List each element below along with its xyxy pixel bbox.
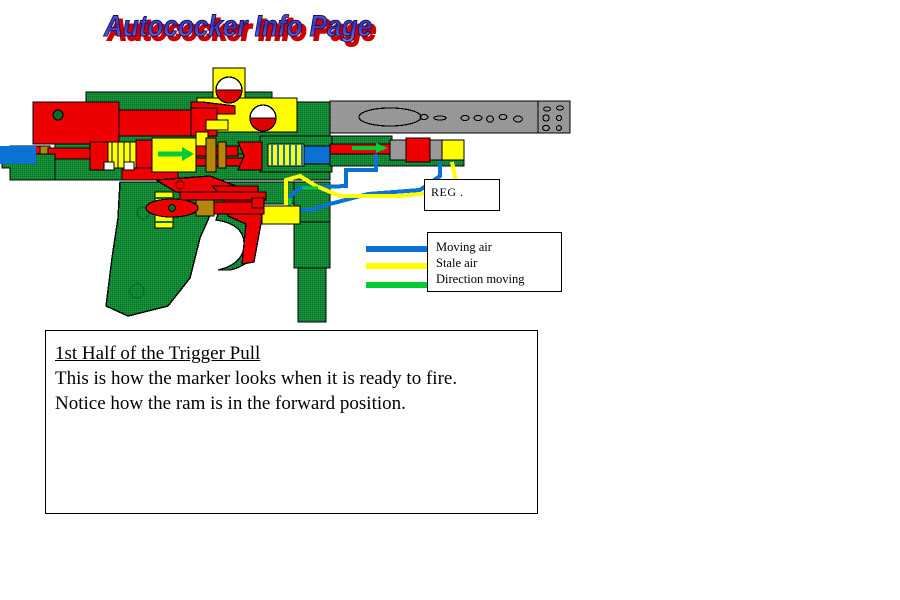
paintball-in-feedneck [216, 77, 242, 103]
page-title-svg: Autococker Info Page Autococker Info Pag… [100, 8, 380, 52]
legend: Moving air Stale air Direction moving [366, 232, 562, 292]
vertical-asa-adapter [294, 182, 330, 322]
legend-label-stale-air: Stale air [436, 255, 477, 271]
valve-chamber [152, 138, 262, 172]
legend-swatch-direction-moving [366, 282, 430, 288]
description-line-2: Notice how the ram is in the forward pos… [55, 391, 537, 416]
legend-label-moving-air: Moving air [436, 239, 492, 255]
legend-swatch-stale-air [366, 263, 430, 269]
barrel-group [330, 101, 570, 133]
reg-callout-label: REG . [431, 185, 464, 200]
legend-label-direction-moving: Direction moving [436, 271, 525, 287]
description-box: 1st Half of the Trigger Pull This is how… [45, 330, 538, 514]
description-heading: 1st Half of the Trigger Pull [55, 341, 260, 366]
legend-swatch-moving-air [366, 246, 430, 252]
page-title-wordart: Autococker Info Page Autococker Info Pag… [100, 8, 380, 52]
reg-callout-box: REG . [424, 179, 500, 211]
description-line-1: This is how the marker looks when it is … [55, 366, 537, 391]
page-title-main-text: Autococker Info Page [103, 10, 372, 43]
paintball-in-breech [250, 105, 276, 131]
